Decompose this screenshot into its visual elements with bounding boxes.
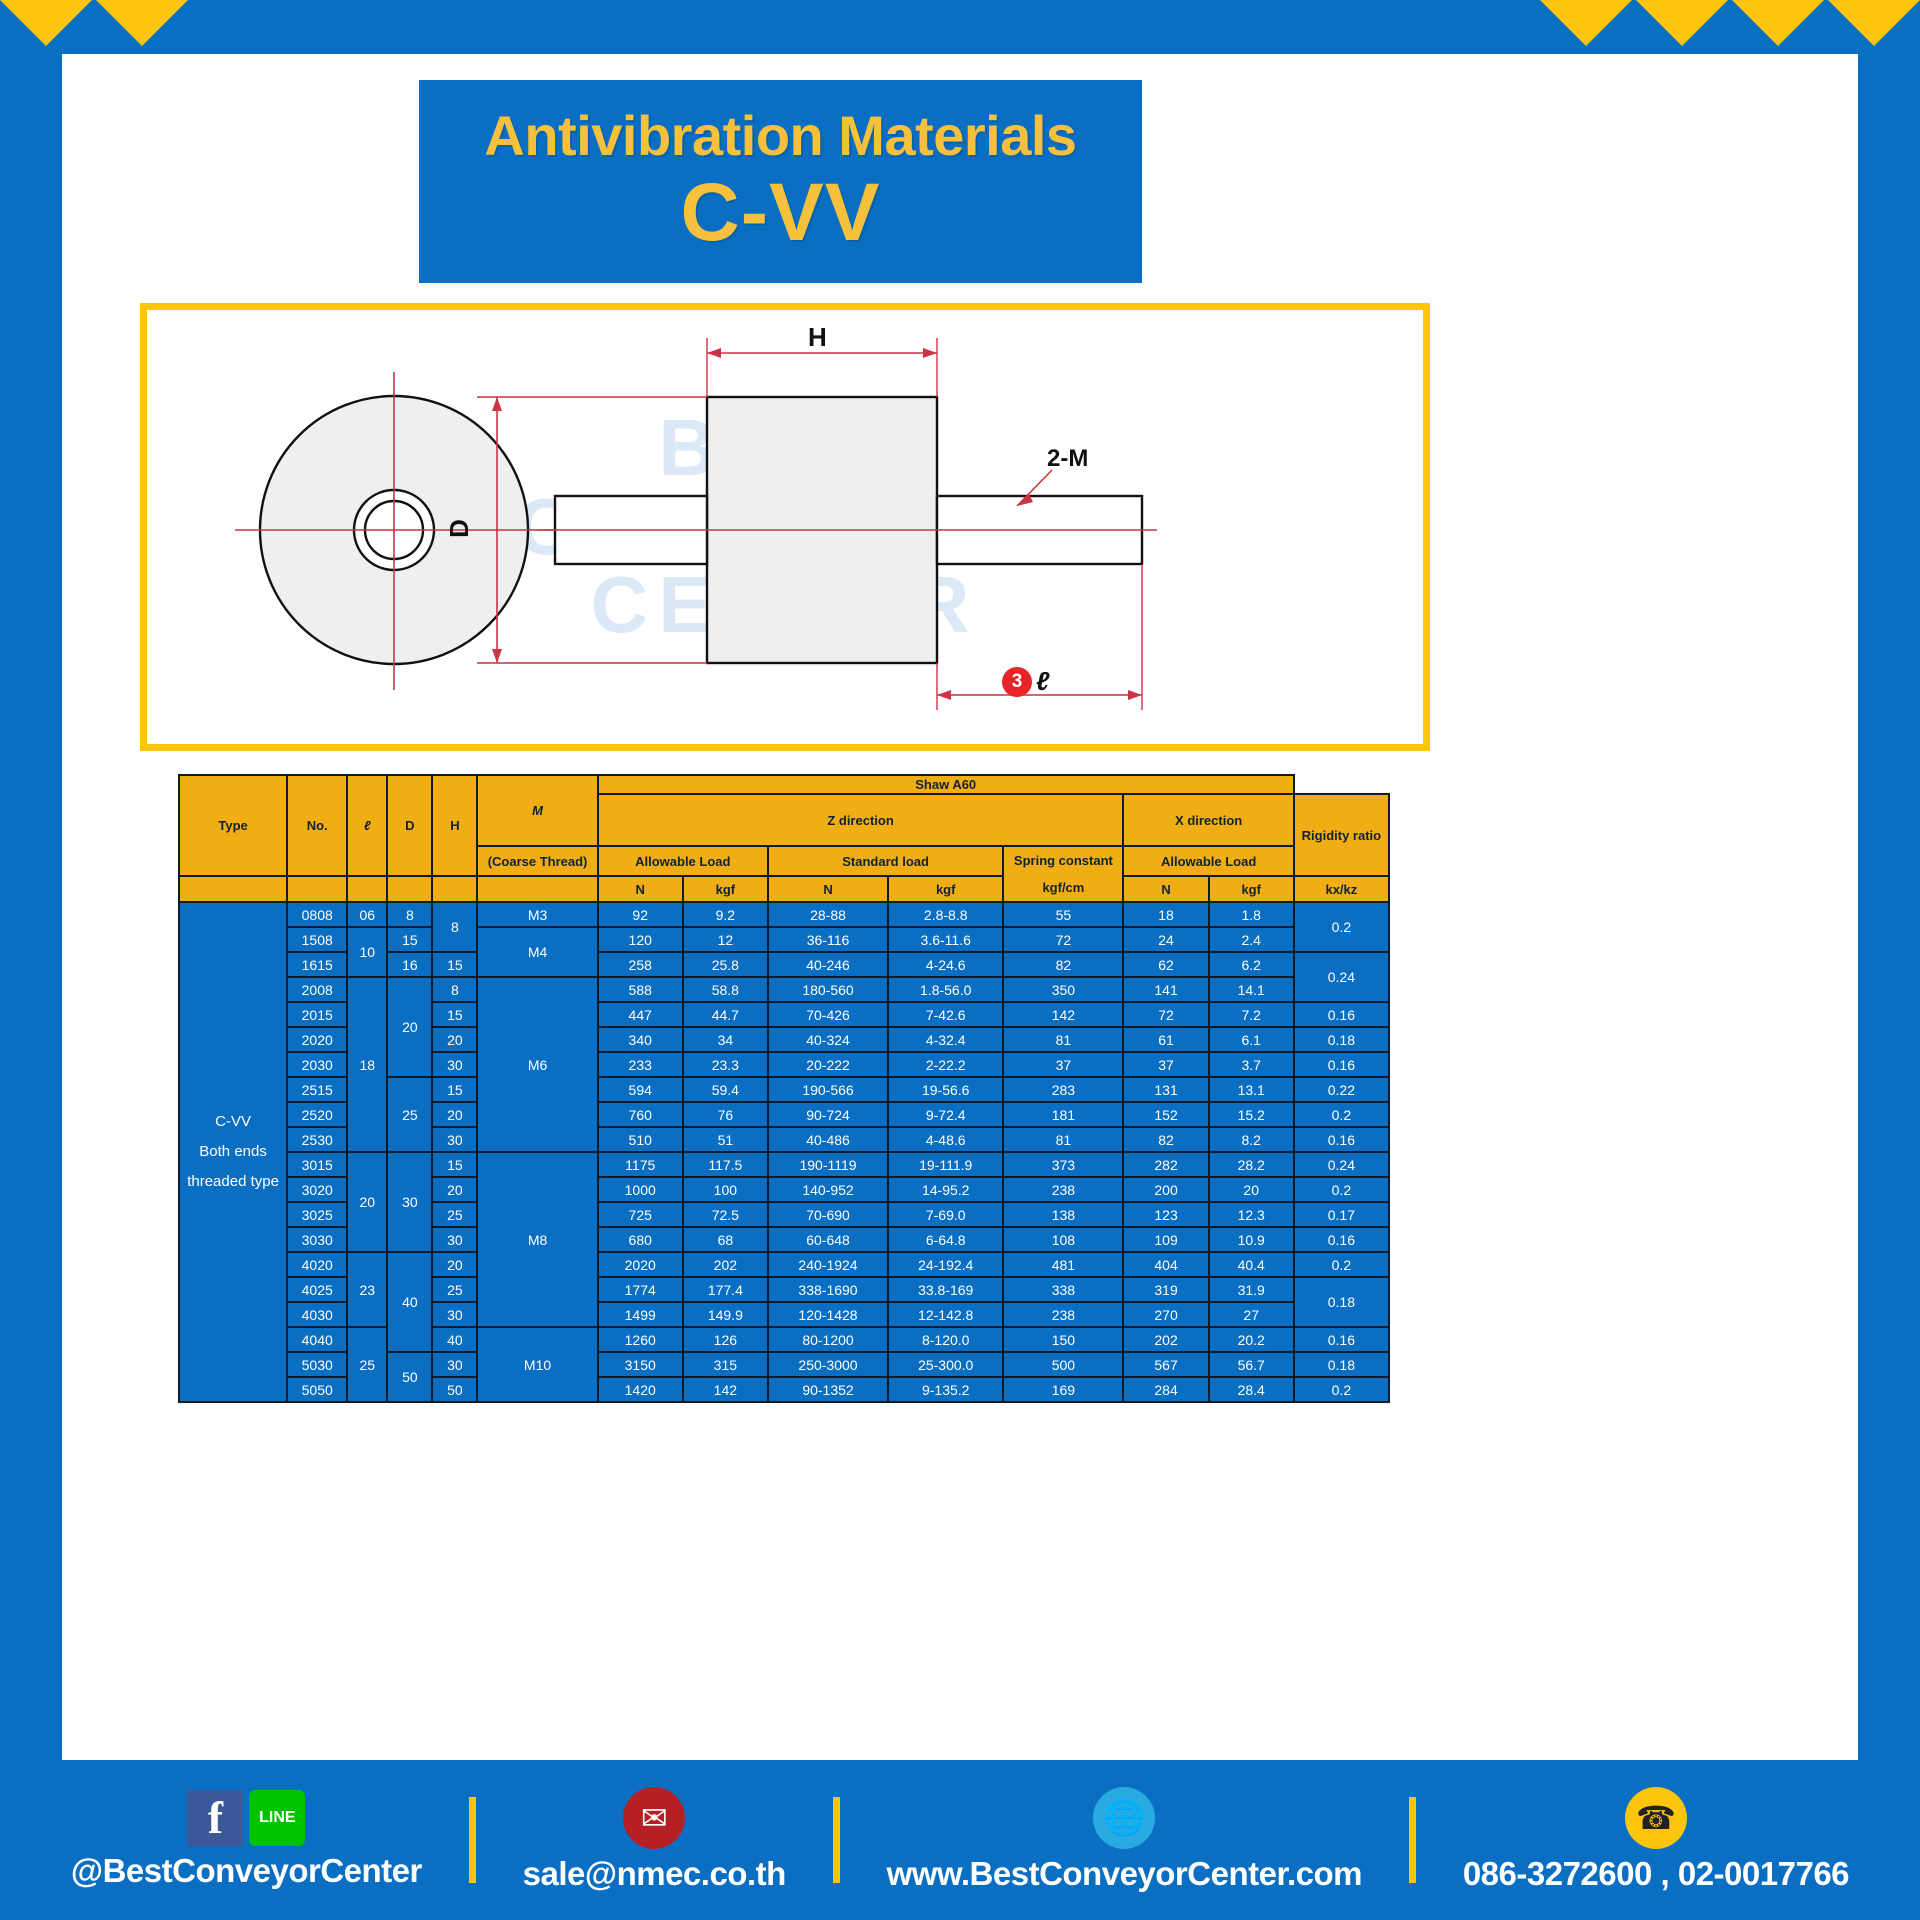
cell-z-allowable-n: 258 [598, 952, 683, 977]
cell-z-allowable-kgf: 100 [683, 1177, 768, 1202]
cell-x-allowable-kgf: 6.2 [1209, 952, 1294, 977]
d-arrow-bottom [492, 649, 502, 663]
type-line-3: threaded type [182, 1167, 284, 1197]
unit-header-blank-4 [387, 876, 432, 902]
unit-header-x-allowable-n: N [1123, 876, 1208, 902]
unit-header-x-allowable-kgf: kgf [1209, 876, 1294, 902]
unit-header-blank-5 [432, 876, 477, 902]
cell-z-standard-kgf: 33.8-169 [888, 1277, 1003, 1302]
cell-z-standard-n: 90-1352 [768, 1377, 888, 1402]
cell-z-standard-kgf: 4-48.6 [888, 1127, 1003, 1152]
cell-no: 2030 [287, 1052, 347, 1077]
cell-x-allowable-kgf: 13.1 [1209, 1077, 1294, 1102]
cell-z-standard-kgf: 7-42.6 [888, 1002, 1003, 1027]
cell-z-standard-n: 40-246 [768, 952, 888, 977]
cell-m: M10 [477, 1327, 597, 1402]
cell-spring-constant: 481 [1003, 1252, 1123, 1277]
cell-d: 15 [387, 927, 432, 952]
cell-spring-constant: 81 [1003, 1027, 1123, 1052]
cell-rigidity-ratio: 0.22 [1294, 1077, 1389, 1102]
footer-email-group[interactable]: ✉ sale@nmec.co.th [523, 1787, 786, 1893]
table-body: C-VVBoth endsthreaded type08080688M3929.… [179, 902, 1389, 1402]
cell-z-standard-kgf: 4-24.6 [888, 952, 1003, 977]
footer-phone-numbers: 086-3272600 , 02-0017766 [1463, 1855, 1849, 1893]
cell-z-allowable-kgf: 12 [683, 927, 768, 952]
cell-rigidity-ratio: 0.2 [1294, 1177, 1389, 1202]
cell-spring-constant: 37 [1003, 1052, 1123, 1077]
cell-m: M8 [477, 1152, 597, 1327]
cell-z-standard-n: 20-222 [768, 1052, 888, 1077]
col-header-l: ℓ [347, 775, 387, 876]
col-header-z-allowable-load: Allowable Load [598, 846, 768, 876]
cell-h: 20 [432, 1027, 477, 1052]
cell-x-allowable-n: 72 [1123, 1002, 1208, 1027]
cell-d: 40 [387, 1252, 432, 1352]
unit-header-blank [179, 876, 287, 902]
cell-rigidity-ratio: 0.24 [1294, 1152, 1389, 1177]
col-header-coarse-thread: (Coarse Thread) [477, 846, 597, 876]
cell-spring-constant: 81 [1003, 1127, 1123, 1152]
footer-facebook-handle: @BestConveyorCenter [71, 1852, 422, 1890]
cell-x-allowable-kgf: 31.9 [1209, 1277, 1294, 1302]
cell-z-standard-kgf: 24-192.4 [888, 1252, 1003, 1277]
cell-z-allowable-kgf: 117.5 [683, 1152, 768, 1177]
cell-no: 4040 [287, 1327, 347, 1352]
chevron-icon [0, 0, 92, 46]
cell-x-allowable-n: 141 [1123, 977, 1208, 1002]
cell-rigidity-ratio: 0.16 [1294, 1327, 1389, 1352]
dimension-label-h: H [808, 322, 827, 353]
col-header-h: H [432, 775, 477, 876]
cell-z-standard-n: 40-324 [768, 1027, 888, 1052]
cell-z-allowable-kgf: 202 [683, 1252, 768, 1277]
footer-facebook-group[interactable]: f LINE @BestConveyorCenter [71, 1790, 422, 1890]
cell-z-allowable-n: 594 [598, 1077, 683, 1102]
cell-x-allowable-n: 152 [1123, 1102, 1208, 1127]
cell-z-standard-kgf: 8-120.0 [888, 1327, 1003, 1352]
col-header-d: D [387, 775, 432, 876]
cell-z-allowable-n: 120 [598, 927, 683, 952]
cell-z-standard-n: 70-426 [768, 1002, 888, 1027]
table-row: C-VVBoth endsthreaded type08080688M3929.… [179, 902, 1389, 927]
cell-no: 3015 [287, 1152, 347, 1177]
cell-rigidity-ratio: 0.16 [1294, 1002, 1389, 1027]
cell-x-allowable-kgf: 14.1 [1209, 977, 1294, 1002]
cell-h: 15 [432, 1002, 477, 1027]
footer-phone-group[interactable]: ☎ 086-3272600 , 02-0017766 [1463, 1787, 1849, 1893]
footer-divider-3 [1409, 1797, 1416, 1883]
cell-l: 10 [347, 927, 387, 977]
cell-z-allowable-n: 340 [598, 1027, 683, 1052]
cell-x-allowable-n: 62 [1123, 952, 1208, 977]
cell-l: 23 [347, 1252, 387, 1327]
cell-z-standard-n: 28-88 [768, 902, 888, 927]
cell-spring-constant: 169 [1003, 1377, 1123, 1402]
cell-z-allowable-kgf: 51 [683, 1127, 768, 1152]
cell-spring-constant: 500 [1003, 1352, 1123, 1377]
col-header-shaw: Shaw A60 [598, 775, 1294, 794]
cell-z-standard-kgf: 14-95.2 [888, 1177, 1003, 1202]
cell-x-allowable-n: 200 [1123, 1177, 1208, 1202]
cell-z-allowable-n: 3150 [598, 1352, 683, 1377]
cell-x-allowable-kgf: 20 [1209, 1177, 1294, 1202]
cell-no: 4020 [287, 1252, 347, 1277]
cell-no: 4025 [287, 1277, 347, 1302]
title-banner: Antivibration Materials C-VV [419, 80, 1142, 283]
cell-z-allowable-kgf: 72.5 [683, 1202, 768, 1227]
spring-constant-label: Spring constant [1006, 853, 1120, 868]
cell-h: 30 [432, 1127, 477, 1152]
col-header-x-direction: X direction [1123, 794, 1293, 846]
cell-x-allowable-kgf: 7.2 [1209, 1002, 1294, 1027]
cell-z-standard-kgf: 25-300.0 [888, 1352, 1003, 1377]
cell-z-allowable-kgf: 177.4 [683, 1277, 768, 1302]
cell-z-standard-kgf: 1.8-56.0 [888, 977, 1003, 1002]
h-arrow-right [923, 348, 937, 358]
table-row: 3015203015M81175117.5190-111919-111.9373… [179, 1152, 1389, 1177]
cell-z-allowable-n: 1420 [598, 1377, 683, 1402]
cell-h: 30 [432, 1052, 477, 1077]
cell-rigidity-ratio: 0.16 [1294, 1127, 1389, 1152]
cell-z-allowable-kgf: 126 [683, 1327, 768, 1352]
cell-z-standard-n: 80-1200 [768, 1327, 888, 1352]
cell-z-allowable-n: 1260 [598, 1327, 683, 1352]
cell-h: 20 [432, 1102, 477, 1127]
cell-h: 50 [432, 1377, 477, 1402]
cell-h: 30 [432, 1302, 477, 1327]
cell-rigidity-ratio: 0.2 [1294, 1377, 1389, 1402]
cell-spring-constant: 238 [1003, 1302, 1123, 1327]
l-arrow-right [1128, 690, 1142, 700]
cell-x-allowable-n: 131 [1123, 1077, 1208, 1102]
col-header-z-standard-load: Standard load [768, 846, 1003, 876]
cell-spring-constant: 142 [1003, 1002, 1123, 1027]
cell-x-allowable-n: 404 [1123, 1252, 1208, 1277]
cell-z-standard-n: 120-1428 [768, 1302, 888, 1327]
cell-z-allowable-kgf: 315 [683, 1352, 768, 1377]
cell-d: 20 [387, 977, 432, 1077]
cell-z-standard-n: 60-648 [768, 1227, 888, 1252]
cell-z-allowable-n: 510 [598, 1127, 683, 1152]
footer-website-url: www.BestConveyorCenter.com [887, 1855, 1362, 1893]
type-line-2: Both ends [182, 1137, 284, 1167]
cell-d: 30 [387, 1152, 432, 1252]
cell-z-standard-kgf: 6-64.8 [888, 1227, 1003, 1252]
footer-divider-2 [833, 1797, 840, 1883]
chevron-icon [1540, 0, 1632, 46]
cell-z-standard-kgf: 2-22.2 [888, 1052, 1003, 1077]
cell-x-allowable-kgf: 6.1 [1209, 1027, 1294, 1052]
dimension-label-2m: 2-M [1047, 445, 1088, 473]
cell-x-allowable-kgf: 3.7 [1209, 1052, 1294, 1077]
cell-z-standard-n: 180-560 [768, 977, 888, 1002]
dimension-label-l-group: 3 ℓ [1002, 666, 1049, 697]
footer-website-group[interactable]: 🌐 www.BestConveyorCenter.com [887, 1787, 1362, 1893]
page-subtitle: C-VV [681, 170, 881, 256]
cell-h: 30 [432, 1352, 477, 1377]
cell-z-standard-n: 190-1119 [768, 1152, 888, 1177]
cell-x-allowable-kgf: 20.2 [1209, 1327, 1294, 1352]
cell-z-allowable-n: 2020 [598, 1252, 683, 1277]
spring-constant-unit: kgf/cm [1006, 880, 1120, 895]
cell-m: M3 [477, 902, 597, 927]
cell-spring-constant: 138 [1003, 1202, 1123, 1227]
cell-no: 2515 [287, 1077, 347, 1102]
cell-spring-constant: 238 [1003, 1177, 1123, 1202]
cell-spring-constant: 338 [1003, 1277, 1123, 1302]
cell-l: 18 [347, 977, 387, 1152]
cell-x-allowable-kgf: 28.4 [1209, 1377, 1294, 1402]
cell-no: 4030 [287, 1302, 347, 1327]
cell-d: 25 [387, 1077, 432, 1152]
l-arrow-left [937, 690, 951, 700]
cell-x-allowable-n: 202 [1123, 1327, 1208, 1352]
unit-header-rigidity-kxkz: kx/kz [1294, 876, 1389, 902]
cell-l: 25 [347, 1327, 387, 1402]
cell-z-allowable-kgf: 149.9 [683, 1302, 768, 1327]
cell-h: 15 [432, 1077, 477, 1102]
cell-x-allowable-n: 319 [1123, 1277, 1208, 1302]
cell-z-standard-n: 250-3000 [768, 1352, 888, 1377]
cell-z-standard-n: 36-116 [768, 927, 888, 952]
col-header-rigidity-ratio: Rigidity ratio [1294, 794, 1389, 876]
cell-h: 40 [432, 1327, 477, 1352]
cell-d: 50 [387, 1352, 432, 1402]
cell-no: 2020 [287, 1027, 347, 1052]
cell-no: 0808 [287, 902, 347, 927]
cell-z-standard-kgf: 12-142.8 [888, 1302, 1003, 1327]
cell-z-allowable-n: 233 [598, 1052, 683, 1077]
cell-rigidity-ratio: 0.2 [1294, 902, 1389, 952]
col-header-no: No. [287, 775, 347, 876]
cell-x-allowable-n: 18 [1123, 902, 1208, 927]
cell-d: 8 [387, 902, 432, 927]
cell-z-standard-n: 190-566 [768, 1077, 888, 1102]
note-badge-3: 3 [1002, 667, 1032, 697]
cell-x-allowable-kgf: 28.2 [1209, 1152, 1294, 1177]
footer-divider-1 [469, 1797, 476, 1883]
dimension-label-l: ℓ [1036, 666, 1049, 697]
cell-x-allowable-n: 123 [1123, 1202, 1208, 1227]
cell-no: 2520 [287, 1102, 347, 1127]
cell-z-standard-n: 240-1924 [768, 1252, 888, 1277]
unit-header-z-allowable-n: N [598, 876, 683, 902]
cell-m: M6 [477, 977, 597, 1152]
table-row: 200818208M658858.8180-5601.8-56.03501411… [179, 977, 1389, 1002]
unit-header-blank-2 [287, 876, 347, 902]
cell-z-allowable-n: 760 [598, 1102, 683, 1127]
cell-z-allowable-n: 1175 [598, 1152, 683, 1177]
cell-z-allowable-kgf: 9.2 [683, 902, 768, 927]
unit-header-z-standard-kgf: kgf [888, 876, 1003, 902]
phone-icon[interactable]: ☎ [1625, 1787, 1687, 1849]
cell-z-standard-kgf: 19-56.6 [888, 1077, 1003, 1102]
cell-z-allowable-n: 725 [598, 1202, 683, 1227]
cell-z-standard-kgf: 7-69.0 [888, 1202, 1003, 1227]
cell-z-allowable-kgf: 25.8 [683, 952, 768, 977]
cell-z-allowable-n: 588 [598, 977, 683, 1002]
cell-spring-constant: 350 [1003, 977, 1123, 1002]
cell-h: 30 [432, 1227, 477, 1252]
col-header-spring-constant-group: Spring constant kgf/cm [1003, 846, 1123, 902]
cell-no: 5030 [287, 1352, 347, 1377]
cell-no: 5050 [287, 1377, 347, 1402]
cell-h: 15 [432, 952, 477, 977]
header-row-1: Type No. ℓ D H M Shaw A60 [179, 775, 1389, 794]
cell-z-allowable-n: 447 [598, 1002, 683, 1027]
cell-z-allowable-n: 680 [598, 1227, 683, 1252]
technical-drawing-svg [147, 310, 1423, 744]
cell-z-allowable-n: 92 [598, 902, 683, 927]
cell-z-allowable-kgf: 44.7 [683, 1002, 768, 1027]
cell-h: 20 [432, 1177, 477, 1202]
chevron-icon [1636, 0, 1728, 46]
cell-x-allowable-kgf: 2.4 [1209, 927, 1294, 952]
cell-x-allowable-kgf: 40.4 [1209, 1252, 1294, 1277]
facebook-icon[interactable]: f [187, 1790, 243, 1846]
cell-z-allowable-kgf: 76 [683, 1102, 768, 1127]
cell-spring-constant: 82 [1003, 952, 1123, 977]
cell-x-allowable-n: 567 [1123, 1352, 1208, 1377]
cell-no: 3020 [287, 1177, 347, 1202]
cell-h: 25 [432, 1202, 477, 1227]
cell-x-allowable-kgf: 8.2 [1209, 1127, 1294, 1152]
table-row: 40402540M10126012680-12008-120.015020220… [179, 1327, 1389, 1352]
product-drawing-frame: ▲ BEST CONVEYOR CENTER [140, 303, 1430, 751]
cell-h: 8 [432, 977, 477, 1002]
h-arrow-left [707, 348, 721, 358]
col-header-m: M [477, 775, 597, 846]
cell-rigidity-ratio: 0.18 [1294, 1352, 1389, 1377]
cell-rigidity-ratio: 0.24 [1294, 952, 1389, 1002]
cell-z-standard-n: 40-486 [768, 1127, 888, 1152]
cell-spring-constant: 108 [1003, 1227, 1123, 1252]
cell-z-allowable-n: 1499 [598, 1302, 683, 1327]
poster-root: Antivibration Materials C-VV ▲ BEST CONV… [0, 0, 1920, 1920]
cell-rigidity-ratio: 0.16 [1294, 1052, 1389, 1077]
cell-rigidity-ratio: 0.2 [1294, 1252, 1389, 1277]
cell-z-standard-n: 70-690 [768, 1202, 888, 1227]
cell-z-allowable-kgf: 23.3 [683, 1052, 768, 1077]
footer-social-icons: f LINE [187, 1790, 305, 1846]
cell-spring-constant: 55 [1003, 902, 1123, 927]
cell-no: 2008 [287, 977, 347, 1002]
d-arrow-top [492, 397, 502, 411]
cell-z-allowable-n: 1000 [598, 1177, 683, 1202]
footer-email-address: sale@nmec.co.th [523, 1855, 786, 1893]
cell-x-allowable-kgf: 10.9 [1209, 1227, 1294, 1252]
unit-header-z-standard-n: N [768, 876, 888, 902]
cell-no: 1508 [287, 927, 347, 952]
cell-d: 16 [387, 952, 432, 977]
cell-spring-constant: 181 [1003, 1102, 1123, 1127]
col-header-type: Type [179, 775, 287, 876]
email-icon[interactable]: ✉ [623, 1787, 685, 1849]
cell-z-standard-kgf: 19-111.9 [888, 1152, 1003, 1177]
cell-z-standard-n: 140-952 [768, 1177, 888, 1202]
cell-rigidity-ratio: 0.2 [1294, 1102, 1389, 1127]
cell-x-allowable-kgf: 12.3 [1209, 1202, 1294, 1227]
cell-l: 06 [347, 902, 387, 927]
cell-z-standard-kgf: 9-72.4 [888, 1102, 1003, 1127]
cell-x-allowable-n: 109 [1123, 1227, 1208, 1252]
cell-rigidity-ratio: 0.18 [1294, 1027, 1389, 1052]
cell-rigidity-ratio: 0.16 [1294, 1227, 1389, 1252]
header-row-4: N kgf N kgf N kgf kx/kz [179, 876, 1389, 902]
cell-z-allowable-kgf: 59.4 [683, 1077, 768, 1102]
top-chevron-decoration [0, 0, 1920, 54]
cell-x-allowable-n: 270 [1123, 1302, 1208, 1327]
page-title: Antivibration Materials [484, 107, 1076, 166]
cell-rigidity-ratio: 0.17 [1294, 1202, 1389, 1227]
cell-type: C-VVBoth endsthreaded type [179, 902, 287, 1402]
cell-no: 2015 [287, 1002, 347, 1027]
cell-x-allowable-n: 24 [1123, 927, 1208, 952]
type-line-1: C-VV [182, 1107, 284, 1137]
cell-x-allowable-kgf: 1.8 [1209, 902, 1294, 927]
cell-z-allowable-n: 1774 [598, 1277, 683, 1302]
cell-z-allowable-kgf: 34 [683, 1027, 768, 1052]
cell-h: 8 [432, 902, 477, 952]
cell-no: 2530 [287, 1127, 347, 1152]
chevron-icon [1828, 0, 1920, 46]
cell-spring-constant: 373 [1003, 1152, 1123, 1177]
chevron-icon [96, 0, 188, 46]
cell-z-allowable-kgf: 58.8 [683, 977, 768, 1002]
cell-z-standard-kgf: 4-32.4 [888, 1027, 1003, 1052]
cell-spring-constant: 150 [1003, 1327, 1123, 1352]
specification-table: Type No. ℓ D H M Shaw A60 Z direction X … [178, 774, 1390, 1403]
cell-spring-constant: 72 [1003, 927, 1123, 952]
cell-spring-constant: 283 [1003, 1077, 1123, 1102]
cell-z-standard-kgf: 2.8-8.8 [888, 902, 1003, 927]
content-card: Antivibration Materials C-VV ▲ BEST CONV… [62, 54, 1858, 1760]
cell-no: 3025 [287, 1202, 347, 1227]
cell-no: 1615 [287, 952, 347, 977]
cell-x-allowable-kgf: 56.7 [1209, 1352, 1294, 1377]
cell-z-standard-n: 338-1690 [768, 1277, 888, 1302]
cell-no: 3030 [287, 1227, 347, 1252]
table-row: 15081015M41201236-1163.6-11.672242.4 [179, 927, 1389, 952]
cell-x-allowable-kgf: 27 [1209, 1302, 1294, 1327]
cell-z-allowable-kgf: 68 [683, 1227, 768, 1252]
cell-z-standard-kgf: 3.6-11.6 [888, 927, 1003, 952]
cell-h: 25 [432, 1277, 477, 1302]
cell-x-allowable-kgf: 15.2 [1209, 1102, 1294, 1127]
col-header-z-direction: Z direction [598, 794, 1124, 846]
contact-footer: f LINE @BestConveyorCenter ✉ sale@nmec.c… [0, 1760, 1920, 1920]
table-row: 40202340202020202240-192424-192.44814044… [179, 1252, 1389, 1277]
cell-m: M4 [477, 927, 597, 977]
col-header-x-allowable-load: Allowable Load [1123, 846, 1293, 876]
cell-x-allowable-n: 282 [1123, 1152, 1208, 1177]
chevron-icon [1732, 0, 1824, 46]
dimension-label-d: D [444, 519, 475, 538]
cell-h: 20 [432, 1252, 477, 1277]
cell-x-allowable-n: 61 [1123, 1027, 1208, 1052]
cell-x-allowable-n: 37 [1123, 1052, 1208, 1077]
cell-x-allowable-n: 82 [1123, 1127, 1208, 1152]
cell-h: 15 [432, 1152, 477, 1177]
line-icon[interactable]: LINE [249, 1790, 305, 1846]
cell-l: 20 [347, 1152, 387, 1252]
table-head: Type No. ℓ D H M Shaw A60 Z direction X … [179, 775, 1389, 902]
cell-x-allowable-n: 284 [1123, 1377, 1208, 1402]
globe-icon[interactable]: 🌐 [1093, 1787, 1155, 1849]
cell-rigidity-ratio: 0.18 [1294, 1277, 1389, 1327]
cell-z-allowable-kgf: 142 [683, 1377, 768, 1402]
unit-header-z-allowable-kgf: kgf [683, 876, 768, 902]
